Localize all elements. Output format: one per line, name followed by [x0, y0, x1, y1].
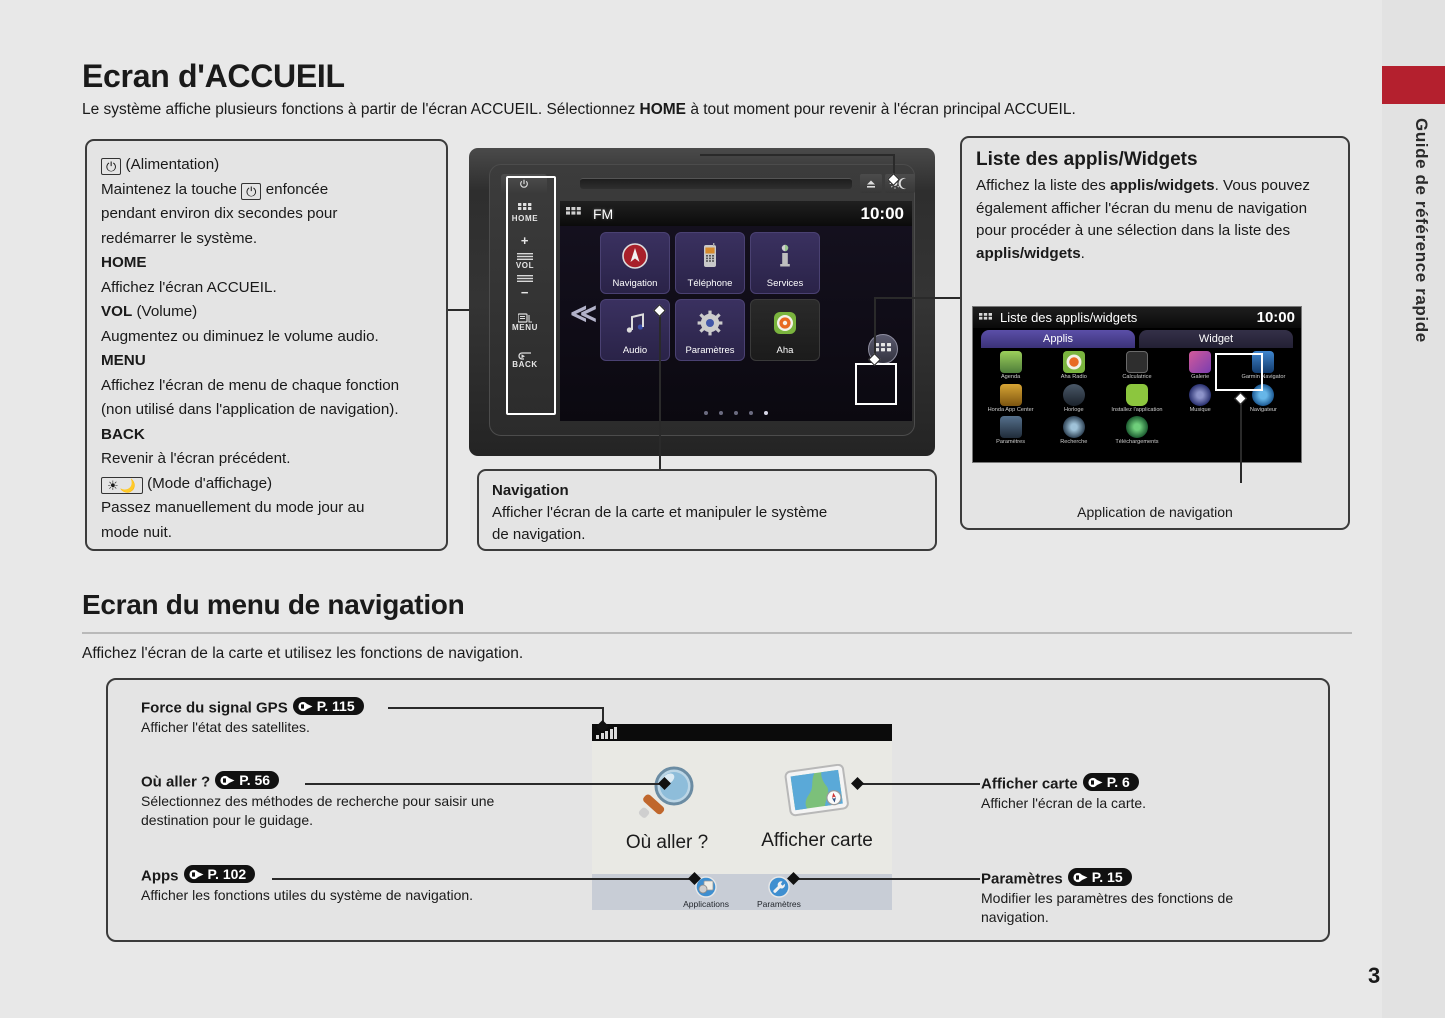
callout-title-text: Apps — [141, 868, 179, 885]
display-mode-label: (Mode d'affichage) — [147, 475, 272, 492]
callout-title: AppsP. 102 — [141, 865, 561, 885]
head-unit-key-panel: HOME + VOL − MENU BACK — [499, 171, 551, 421]
display-desc-2: mode nuit. — [101, 521, 432, 546]
page-dot[interactable] — [704, 411, 708, 415]
music-note-icon — [623, 300, 647, 345]
info-icon — [777, 233, 793, 278]
callout-title: Où aller ?P. 56 — [141, 771, 541, 791]
apps-screen-caption: Application de navigation — [962, 504, 1348, 520]
leader-gps — [388, 707, 603, 709]
tile-label: Paramètres — [685, 345, 734, 356]
audio-source-label: FM — [593, 206, 613, 222]
page-dot[interactable] — [734, 411, 738, 415]
leader-display-top — [700, 154, 894, 156]
apps-screen-title: Liste des applis/widgets — [1000, 310, 1137, 325]
page-title: Ecran d'ACCUEIL — [82, 58, 345, 95]
app-telechargements[interactable]: Téléchargements — [1105, 416, 1168, 446]
app-installez-application[interactable]: Installez l'application — [1105, 384, 1168, 414]
search-icon — [1063, 416, 1085, 438]
apps-widgets-screen: Liste des applis/widgets 10:00 Applis Wi… — [972, 306, 1302, 463]
page-ref-text: P. 15 — [1092, 869, 1123, 885]
power-line-3: redémarrer le système. — [101, 227, 432, 252]
menu-heading: MENU — [101, 349, 432, 374]
leader-apps — [272, 878, 695, 880]
page-number: 3 — [1368, 963, 1380, 989]
nav-button-label: Où aller ? — [626, 832, 708, 854]
page-indicator-dots — [560, 411, 912, 415]
browser-globe-icon — [1252, 384, 1274, 406]
page-ref-pill[interactable]: P. 115 — [293, 697, 364, 715]
home-heading: HOME — [101, 251, 432, 276]
tile-label: Aha — [777, 345, 794, 356]
page-dot-active[interactable] — [764, 411, 768, 415]
calculator-icon — [1126, 351, 1148, 373]
nav-small-label: Paramètres — [757, 899, 801, 909]
page-ref-pill[interactable]: P. 102 — [184, 865, 256, 883]
tab-applis[interactable]: Applis — [981, 330, 1135, 348]
leader-parametres — [793, 878, 980, 880]
section-rule — [82, 632, 1352, 634]
intro-text-b: à tout moment pour revenir à l'écran pri… — [686, 101, 1076, 118]
callout-apps: AppsP. 102 Afficher les fonctions utiles… — [141, 865, 561, 905]
app-label: Horloge — [1048, 407, 1100, 414]
page-ref-text: P. 56 — [239, 772, 270, 788]
navigation-callout-title: Navigation — [492, 480, 922, 502]
nav-main-buttons: Où aller ? Afficher carte — [592, 741, 892, 874]
nav-status-bar — [592, 724, 892, 741]
clock-icon — [1063, 384, 1085, 406]
nav-small-label: Applications — [683, 899, 729, 909]
controls-callout: ⏻ (Alimentation) Maintenez la touche ⏻ e… — [85, 139, 448, 551]
callout-title-text: Où aller ? — [141, 774, 210, 791]
nav-button-label: Afficher carte — [761, 830, 873, 852]
power-icon-inline: ⏻ — [241, 183, 261, 200]
callout-title: Force du signal GPSP. 115 — [141, 697, 364, 717]
desc-bold-1: applis/widgets — [1110, 177, 1215, 194]
app-label: Agenda — [985, 374, 1037, 381]
tile-telephone[interactable]: Téléphone — [675, 232, 745, 294]
app-label: Garmin Navigator — [1237, 374, 1289, 381]
app-label: Recherche — [1048, 439, 1100, 446]
leader-ou-aller — [305, 783, 665, 785]
tile-aha[interactable]: Aha — [750, 299, 820, 361]
callout-title-text: Force du signal GPS — [141, 700, 288, 717]
display-desc-1: Passez manuellement du mode jour au — [101, 496, 432, 521]
vol-heading: VOL (Volume) — [101, 300, 432, 325]
app-parametres[interactable]: Paramètres — [979, 416, 1042, 446]
app-label: Téléchargements — [1111, 439, 1163, 446]
head-unit-bezel: HOME + VOL − MENU BACK — [489, 164, 915, 436]
key-label-vol[interactable]: VOL — [499, 261, 551, 270]
page-ref-text: P. 115 — [317, 698, 355, 714]
download-icon — [1126, 416, 1148, 438]
app-aha-radio[interactable]: Aha Radio — [1042, 351, 1105, 381]
volume-up-key[interactable]: + — [499, 233, 551, 248]
phone-icon — [702, 233, 718, 278]
screen-status-bar: FM 10:00 — [560, 201, 912, 226]
head-unit-device: HOME + VOL − MENU BACK — [469, 148, 935, 456]
tab-widget[interactable]: Widget — [1139, 330, 1293, 348]
app-label: Paramètres — [985, 439, 1037, 446]
menu-desc-1: Affichez l'écran de menu de chaque fonct… — [101, 374, 432, 399]
magnifier-icon — [634, 762, 700, 828]
navigation-callout: Navigation Afficher l'écran de la carte … — [477, 469, 937, 551]
grid-icon[interactable] — [979, 309, 992, 327]
callout-afficher-carte: Afficher carteP. 6 Afficher l'écran de l… — [981, 773, 1281, 813]
head-unit-screen: FM 10:00 ≪ Navigation — [560, 201, 912, 421]
eject-icon[interactable] — [860, 174, 882, 193]
page-dot[interactable] — [719, 411, 723, 415]
intro-text-a: Le système affiche plusieurs fonctions à… — [82, 101, 640, 118]
music-icon — [1189, 384, 1211, 406]
callout-desc: Afficher l'écran de la carte. — [981, 794, 1281, 813]
section-title-nav-menu: Ecran du menu de navigation — [82, 589, 464, 621]
head-unit-top-row — [498, 171, 906, 197]
leader-appdrawer-v — [874, 297, 876, 359]
power-line-1: Maintenez la touche ⏻ enfoncée — [101, 178, 432, 203]
apps-screen-clock: 10:00 — [1257, 309, 1295, 326]
desc-a: Affichez la liste des — [976, 177, 1110, 194]
app-label: Navigateur — [1237, 407, 1289, 414]
power-heading: ⏻ (Alimentation) — [101, 153, 432, 178]
honda-app-center-icon — [1000, 384, 1022, 406]
apps-screen-status-bar: Liste des applis/widgets 10:00 — [973, 307, 1301, 328]
page-ref-text: P. 102 — [208, 866, 247, 882]
tile-label: Navigation — [613, 278, 658, 289]
tile-label: Audio — [623, 345, 647, 356]
back-heading: BACK — [101, 423, 432, 448]
callout-desc: Modifier les paramètres des fonctions de… — [981, 889, 1291, 927]
tile-label: Téléphone — [688, 278, 733, 289]
app-calculatrice[interactable]: Calculatrice — [1105, 351, 1168, 381]
desc-bold-2: applis/widgets — [976, 245, 1081, 262]
page-dot[interactable] — [749, 411, 753, 415]
map-card-icon — [782, 764, 852, 826]
callout-parametres: ParamètresP. 15 Modifier les paramètres … — [981, 868, 1291, 927]
disc-slot — [580, 178, 852, 189]
leader-to-right-callout — [897, 297, 960, 299]
vol-desc: Augmentez ou diminuez le volume audio. — [101, 325, 432, 350]
key-label-home[interactable]: HOME — [499, 214, 551, 223]
clock: 10:00 — [861, 204, 904, 224]
app-honda-app-center[interactable]: Honda App Center — [979, 384, 1042, 414]
callout-title-text: Afficher carte — [981, 776, 1078, 793]
aha-icon — [773, 300, 797, 345]
page-ref-pill[interactable]: P. 15 — [1068, 868, 1132, 886]
power-line-2: pendant environ dix secondes pour — [101, 202, 432, 227]
home-screen-body: ≪ Navigation Téléphone — [560, 226, 912, 421]
volume-down-key[interactable]: − — [499, 285, 551, 300]
gallery-icon — [1189, 351, 1211, 373]
app-label: Installez l'application — [1111, 407, 1163, 414]
callout-desc: Afficher l'état des satellites. — [141, 718, 364, 737]
leader-navigation-vert — [659, 312, 661, 482]
section-subtitle-nav-menu: Affichez l'écran de la carte et utilisez… — [82, 645, 523, 663]
navigation-arrow-icon — [622, 233, 648, 278]
apps-widgets-callout: Liste des applis/Widgets Affichez la lis… — [960, 136, 1350, 530]
key-label-menu[interactable]: MENU — [499, 323, 551, 332]
apps-screen-tabs: Applis Widget — [981, 330, 1293, 348]
power-button[interactable] — [501, 174, 547, 194]
key-label-back[interactable]: BACK — [499, 360, 551, 369]
aha-icon — [1063, 351, 1085, 373]
intro-home-keyword: HOME — [640, 101, 687, 118]
app-recherche[interactable]: Recherche — [1042, 416, 1105, 446]
home-desc: Affichez l'écran ACCUEIL. — [101, 276, 432, 301]
callout-gps-signal: Force du signal GPSP. 115 Afficher l'éta… — [141, 697, 364, 737]
desc-d: . — [1081, 245, 1085, 262]
android-icon — [1126, 384, 1148, 406]
callout-desc: Afficher les fonctions utiles du système… — [141, 886, 561, 905]
tile-services[interactable]: Services — [750, 232, 820, 294]
page-ref-pill[interactable]: P. 6 — [1083, 773, 1139, 791]
home-tile-grid: Navigation Téléphone Services — [600, 232, 820, 361]
leader-garmin-vert — [1240, 400, 1242, 483]
power-line-b: enfoncée — [266, 181, 329, 198]
previous-page-chevron-icon[interactable]: ≪ — [570, 298, 597, 329]
app-label: Honda App Center — [985, 407, 1037, 414]
apps-screen-grid: Agenda Aha Radio Calculatrice Galerie Ga… — [979, 351, 1295, 446]
nav-button-ou-aller[interactable]: Où aller ? — [597, 762, 737, 854]
power-line-a: Maintenez la touche — [101, 181, 237, 198]
app-label: Aha Radio — [1048, 374, 1100, 381]
nav-menu-screen: Où aller ? Afficher carte — [592, 724, 892, 910]
sun-moon-icon: ☀🌙 — [101, 477, 143, 494]
gear-icon — [697, 300, 723, 345]
apps-widgets-title: Liste des applis/Widgets — [976, 149, 1334, 171]
garmin-icon — [1252, 351, 1274, 373]
app-agenda[interactable]: Agenda — [979, 351, 1042, 381]
calendar-icon — [1000, 351, 1022, 373]
tile-navigation[interactable]: Navigation — [600, 232, 670, 294]
menu-desc-2: (non utilisé dans l'application de navig… — [101, 398, 432, 423]
power-icon: ⏻ — [101, 158, 121, 175]
app-label: Musique — [1174, 407, 1226, 414]
page-ref-text: P. 6 — [1107, 774, 1130, 790]
callout-desc: Sélectionnez des méthodes de recherche p… — [141, 792, 541, 830]
side-tab-accent — [1382, 66, 1445, 104]
tile-parametres[interactable]: Paramètres — [675, 299, 745, 361]
app-galerie[interactable]: Galerie — [1169, 351, 1232, 381]
apps-widgets-desc: Affichez la liste des applis/widgets. Vo… — [976, 175, 1334, 265]
page-ref-pill[interactable]: P. 56 — [215, 771, 279, 789]
display-mode-heading: ☀🌙 (Mode d'affichage) — [101, 472, 432, 497]
back-desc: Revenir à l'écran précédent. — [101, 447, 432, 472]
vol-paren: (Volume) — [136, 303, 197, 320]
app-label: Calculatrice — [1111, 374, 1163, 381]
leader-afficher-carte — [858, 783, 980, 785]
nav-button-afficher-carte[interactable]: Afficher carte — [747, 764, 887, 852]
settings-icon — [1000, 416, 1022, 438]
power-label: (Alimentation) — [126, 156, 220, 173]
app-musique[interactable]: Musique — [1169, 384, 1232, 414]
grid-icon[interactable] — [566, 205, 581, 223]
callout-ou-aller: Où aller ?P. 56 Sélectionnez des méthode… — [141, 771, 541, 830]
side-tab-label: Guide de référence rapide — [1411, 118, 1431, 343]
navigation-callout-desc-1: Afficher l'écran de la carte et manipule… — [492, 502, 922, 524]
app-garmin-navigator[interactable]: Garmin Navigator — [1232, 351, 1295, 381]
navigation-callout-desc-2: de navigation. — [492, 524, 922, 546]
callout-title: ParamètresP. 15 — [981, 868, 1291, 888]
vol-title: VOL — [101, 303, 132, 320]
app-horloge[interactable]: Horloge — [1042, 384, 1105, 414]
callout-title-text: Paramètres — [981, 871, 1063, 888]
side-tab: Guide de référence rapide — [1382, 0, 1445, 1018]
tile-label: Services — [767, 278, 803, 289]
app-label: Galerie — [1174, 374, 1226, 381]
intro-paragraph: Le système affiche plusieurs fonctions à… — [82, 100, 1312, 120]
callout-title: Afficher carteP. 6 — [981, 773, 1281, 793]
